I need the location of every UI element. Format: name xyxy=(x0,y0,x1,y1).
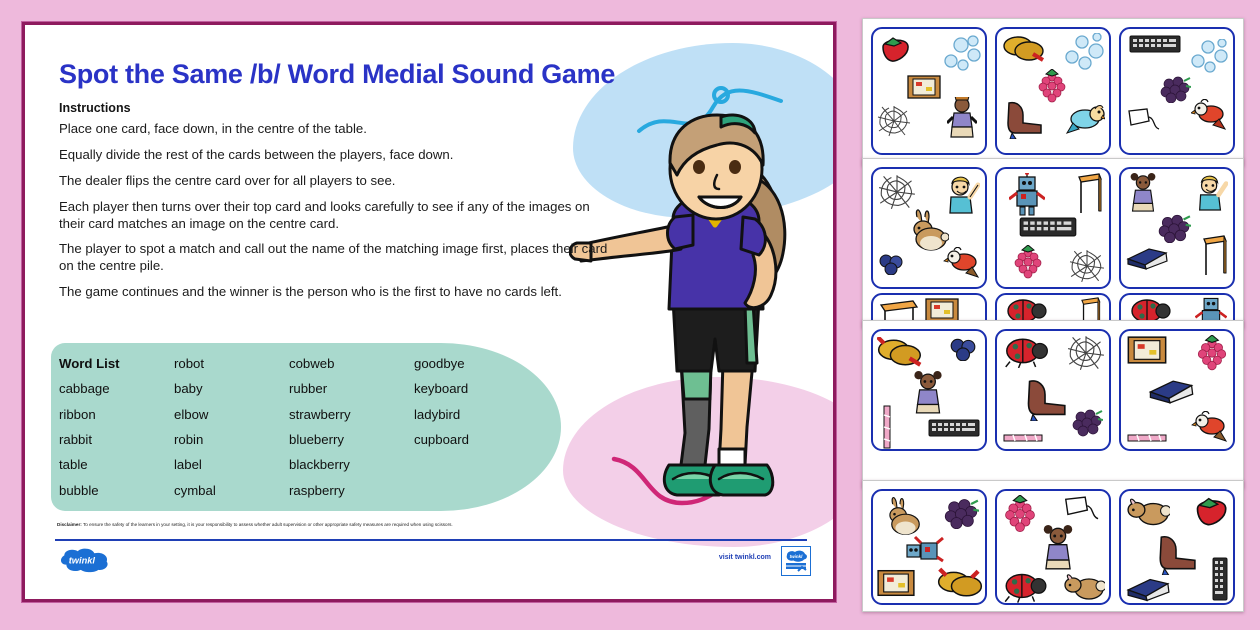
cobweb-icon xyxy=(1069,249,1105,283)
keyboard-icon xyxy=(1129,35,1181,53)
twinkl-logo-text: twinkl xyxy=(69,556,96,566)
cymbal-icon xyxy=(1003,34,1045,64)
word-list-heading: Word List xyxy=(59,356,174,371)
blackberry-icon xyxy=(943,497,979,529)
cymbal-icon xyxy=(877,337,923,369)
word-item: strawberry xyxy=(289,407,414,422)
word-item: baby xyxy=(174,381,289,396)
baby-icon xyxy=(1194,173,1228,213)
blackberry-icon xyxy=(1157,213,1191,243)
strawberry-icon xyxy=(1193,495,1229,527)
baby-icon xyxy=(947,97,977,139)
instruction-step: The player to spot a match and call out … xyxy=(59,241,619,275)
game-card[interactable] xyxy=(1119,167,1235,289)
cupboard-icon xyxy=(1127,336,1167,364)
badge-logo-text: twinkl xyxy=(790,554,804,559)
robot-icon xyxy=(1009,173,1045,217)
raspberry-icon xyxy=(1013,245,1043,281)
quality-approved-badge: twinkl xyxy=(781,546,811,576)
elbow-icon xyxy=(1003,99,1043,139)
bubbles-icon xyxy=(941,35,981,73)
word-item: bubble xyxy=(59,483,174,498)
word-item: raspberry xyxy=(289,483,414,498)
instruction-step: The dealer flips the centre card over fo… xyxy=(59,173,619,190)
rabbit-icon xyxy=(878,495,922,537)
card-sheet[interactable] xyxy=(862,158,1244,328)
word-item: cupboard xyxy=(414,432,524,447)
game-card[interactable] xyxy=(871,329,987,451)
word-item: label xyxy=(174,457,289,472)
footer-divider xyxy=(55,539,807,541)
instruction-step: Equally divide the rest of the cards bet… xyxy=(59,147,619,164)
rabbit-icon xyxy=(1063,573,1105,603)
cobweb-icon xyxy=(877,105,911,137)
ribbon-icon xyxy=(881,405,893,449)
twinkl-logo: twinkl xyxy=(55,547,117,573)
card-sheets-stack xyxy=(862,18,1244,612)
bubbles-icon xyxy=(1189,39,1229,75)
game-card[interactable] xyxy=(995,489,1111,605)
rubber-icon xyxy=(1147,379,1195,405)
blackberry-icon xyxy=(1159,75,1191,103)
word-item: cabbage xyxy=(59,381,174,396)
word-item: robin xyxy=(174,432,289,447)
cupboard-icon xyxy=(877,569,915,597)
ribbon-icon xyxy=(1127,433,1167,443)
game-card[interactable] xyxy=(871,489,987,605)
disclaimer: Disclaimer: To ensure the safety of the … xyxy=(57,522,797,528)
rabbit-icon xyxy=(1126,497,1170,529)
page-title: Spot the Same /b/ Word Medial Sound Game xyxy=(59,59,719,90)
word-item: robot xyxy=(174,356,289,371)
game-card[interactable] xyxy=(871,167,987,289)
rubber-icon xyxy=(1125,577,1171,603)
word-item: keyboard xyxy=(414,381,524,396)
ribbon-icon xyxy=(1003,433,1043,443)
blackberry-icon xyxy=(1071,407,1103,437)
elbow-icon xyxy=(1155,533,1197,575)
elbow-icon xyxy=(1023,377,1067,421)
card-sheet[interactable] xyxy=(862,320,1244,488)
label-icon xyxy=(1127,107,1163,133)
game-card[interactable] xyxy=(1119,489,1235,605)
keyboard-icon xyxy=(927,419,981,437)
raspberry-icon xyxy=(1003,495,1037,535)
game-card[interactable] xyxy=(871,27,987,155)
label-icon xyxy=(1063,495,1103,523)
disclaimer-label: Disclaimer: xyxy=(57,522,82,527)
instructions-heading: Instructions xyxy=(59,101,131,115)
baby-icon xyxy=(911,371,945,415)
visit-link[interactable]: visit twinkl.com xyxy=(719,554,771,561)
word-item: rabbit xyxy=(59,432,174,447)
game-card[interactable] xyxy=(995,329,1111,451)
worksheet-preview: Spot the Same /b/ Word Medial Sound Game… xyxy=(0,0,1260,630)
worksheet-page: Spot the Same /b/ Word Medial Sound Game… xyxy=(22,22,836,602)
bubbles-icon xyxy=(1063,33,1105,73)
instructions-list: Place one card, face down, in the centre… xyxy=(59,121,619,310)
instruction-step: Place one card, face down, in the centre… xyxy=(59,121,619,138)
cupboard-icon xyxy=(907,75,941,99)
word-item: rubber xyxy=(289,381,414,396)
game-card[interactable] xyxy=(995,27,1111,155)
robin-icon xyxy=(1065,103,1105,137)
word-item: goodbye xyxy=(414,356,524,371)
instruction-step: Each player then turns over their top ca… xyxy=(59,199,619,233)
instruction-step: The game continues and the winner is the… xyxy=(59,284,619,301)
rabbit-icon xyxy=(901,209,949,251)
card-sheet[interactable] xyxy=(862,480,1244,612)
word-item: cobweb xyxy=(289,356,414,371)
word-list: Word List robot cobweb goodbye cabbage b… xyxy=(59,351,529,503)
word-item: blackberry xyxy=(289,457,414,472)
game-card[interactable] xyxy=(1119,329,1235,451)
word-item: blueberry xyxy=(289,432,414,447)
word-item: cymbal xyxy=(174,483,289,498)
robot-icon xyxy=(903,535,947,565)
game-card[interactable] xyxy=(995,167,1111,289)
raspberry-icon xyxy=(1195,335,1229,373)
cobweb-icon xyxy=(1067,335,1105,371)
ladybird-icon xyxy=(1001,336,1051,368)
word-item: table xyxy=(59,457,174,472)
robin-icon xyxy=(943,247,981,281)
strawberry-icon xyxy=(879,35,911,63)
word-item: ribbon xyxy=(59,407,174,422)
disclaimer-text: To ensure the safety of the learners in … xyxy=(83,522,453,527)
table-icon xyxy=(1075,173,1103,215)
ladybird-icon xyxy=(1001,571,1049,603)
card-sheet[interactable] xyxy=(862,18,1244,166)
robin-icon xyxy=(1191,99,1227,133)
word-item: elbow xyxy=(174,407,289,422)
game-card[interactable] xyxy=(1119,27,1235,155)
baby-icon xyxy=(1041,525,1075,571)
blueberry-icon xyxy=(949,337,977,361)
cymbal-icon xyxy=(937,567,983,599)
baby-icon xyxy=(944,175,980,215)
cobweb-icon xyxy=(878,174,916,210)
keyboard-icon xyxy=(1019,217,1077,237)
robin-icon xyxy=(1191,411,1229,445)
keyboard-icon xyxy=(1212,557,1228,601)
blueberry-icon xyxy=(878,253,904,275)
table-icon xyxy=(1200,235,1228,277)
baby-icon xyxy=(1126,173,1160,213)
rubber-icon xyxy=(1125,247,1169,271)
word-item: ladybird xyxy=(414,407,524,422)
